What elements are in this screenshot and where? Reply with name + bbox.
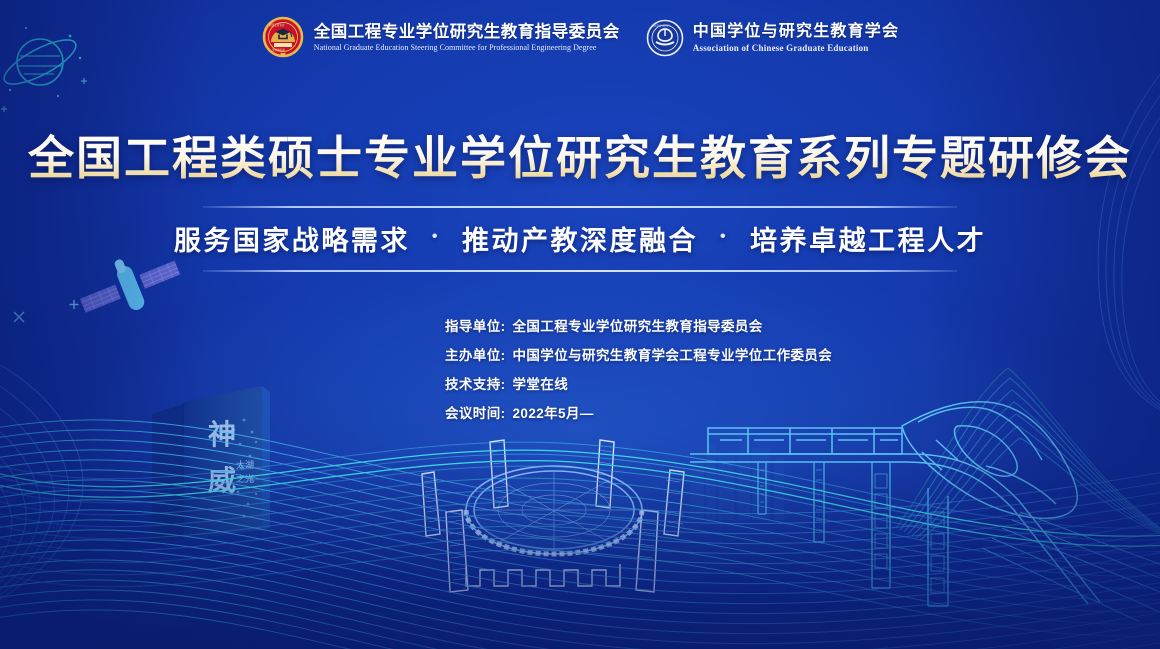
info-row: 主办单位: 中国学位与研究生教育学会工程专业学位工作委员会 [445,344,832,364]
slogan-1: 服务国家战略需求 [174,219,410,258]
slogan-2: 推动产教深度融合 [462,219,698,258]
header-logos: 全国工程专业 学位教指委 全国工程专业学位研究生教育指导委员会 National… [0,16,1160,60]
logo-title-en: Association of Chinese Graduate Educatio… [693,43,899,53]
info-label: 技术支持: [445,373,506,393]
event-info-block: 指导单位: 全国工程专业学位研究生教育指导委员会 主办单位: 中国学位与研究生教… [445,315,832,422]
poster-canvas: 神 威 太湖 之光 [0,0,1160,649]
slogan-separator-icon: • [720,229,728,245]
logo-title-cn: 中国学位与研究生教育学会 [693,23,899,41]
slogan-separator-icon: • [432,229,440,245]
info-value: 2022年5月— [513,402,594,422]
red-academic-seal-icon: 全国工程专业 学位教指委 [261,16,305,60]
logo-title-cn: 全国工程专业学位研究生教育指导委员会 [314,23,620,41]
info-row: 会议时间: 2022年5月— [445,402,832,422]
logo-text-block: 全国工程专业学位研究生教育指导委员会 National Graduate Edu… [314,23,620,53]
wave-lines-graphic [0,399,1160,649]
subtitle-block: 服务国家战略需求 • 推动产教深度融合 • 培养卓越工程人才 [0,206,1160,272]
logo-title-en: National Graduate Education Steering Com… [314,44,620,53]
info-label: 指导单位: [445,315,506,335]
subtitle-rule-bottom [203,270,957,272]
blue-association-seal-icon: 中国学位与研究生 [646,19,684,57]
subtitle-slogans: 服务国家战略需求 • 推动产教深度融合 • 培养卓越工程人才 [174,208,986,270]
svg-text:全国工程专业: 全国工程专业 [269,23,285,27]
info-row: 指导单位: 全国工程专业学位研究生教育指导委员会 [445,315,832,335]
info-row: 技术支持: 学堂在线 [445,373,832,393]
info-value: 全国工程专业学位研究生教育指导委员会 [513,315,763,335]
info-value: 中国学位与研究生教育学会工程专业学位工作委员会 [513,344,833,364]
page-title: 全国工程类硕士专业学位研究生教育系列专题研修会 [0,130,1160,186]
logo-national-graduate-education-steering-committee: 全国工程专业 学位教指委 全国工程专业学位研究生教育指导委员会 National… [261,16,620,60]
info-label: 主办单位: [445,344,506,364]
logo-association-of-chinese-graduate-education: 中国学位与研究生 中国学位与研究生教育学会 Association of Chi… [646,19,899,57]
logo-text-block: 中国学位与研究生教育学会 Association of Chinese Grad… [693,23,899,54]
info-value: 学堂在线 [513,373,569,393]
slogan-3: 培养卓越工程人才 [750,219,986,258]
svg-text:学位教指委: 学位教指委 [272,48,285,52]
info-label: 会议时间: [445,402,506,422]
